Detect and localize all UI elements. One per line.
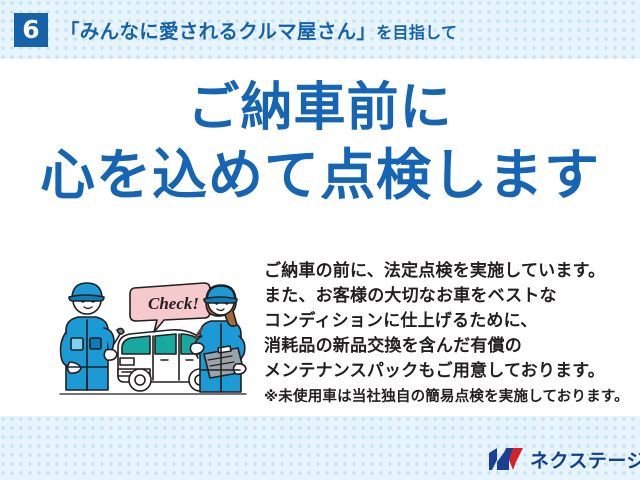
body-copy: ご納車の前に、法定点検を実施しています。 また、お客様の大切なお車をベストな コ… [264,258,624,409]
promo-panel: 6 「みんなに愛されるクルマ屋さん」を目指して ご納車前に 心を込めて点検します… [0,0,640,480]
step-number-badge: 6 [14,13,48,47]
header-tagline: 「みんなに愛されるクルマ屋さん」を目指して [60,15,457,44]
brand-logo: ネクステージ [489,444,640,474]
body-copy-line: また、お客様の大切なお車をベストな [264,283,624,308]
body-copy-footnote: ※未使用車は当社独自の簡易点検を実施しております。 [264,385,624,409]
header: 6 「みんなに愛されるクルマ屋さん」を目指して [0,0,640,59]
body-copy-line: メンテナンスパックもご用意しております。 [264,358,624,383]
header-tagline-tail: を目指して [376,25,457,42]
page-title-line-2: 心を込めて点検します [0,143,640,208]
body-copy-line: ご納車の前に、法定点検を実施しています。 [264,258,624,283]
page-title: ご納車前に 心を込めて点検します [0,78,640,208]
body-copy-line: 消耗品の新品交換を含んだ有償の [264,333,624,358]
svg-text:Check!: Check! [148,294,199,313]
mechanics-van-illustration: Check! [58,272,248,404]
nexstage-n-logo-icon [489,448,523,470]
header-tagline-quote: 「みんなに愛されるクルマ屋さん」 [60,21,376,43]
body-copy-line: コンディションに仕上げるために、 [264,308,624,333]
page-title-line-1: ご納車前に [0,78,640,139]
left-mechanic-figure [61,283,124,390]
brand-wordmark: ネクステージ [530,446,640,473]
